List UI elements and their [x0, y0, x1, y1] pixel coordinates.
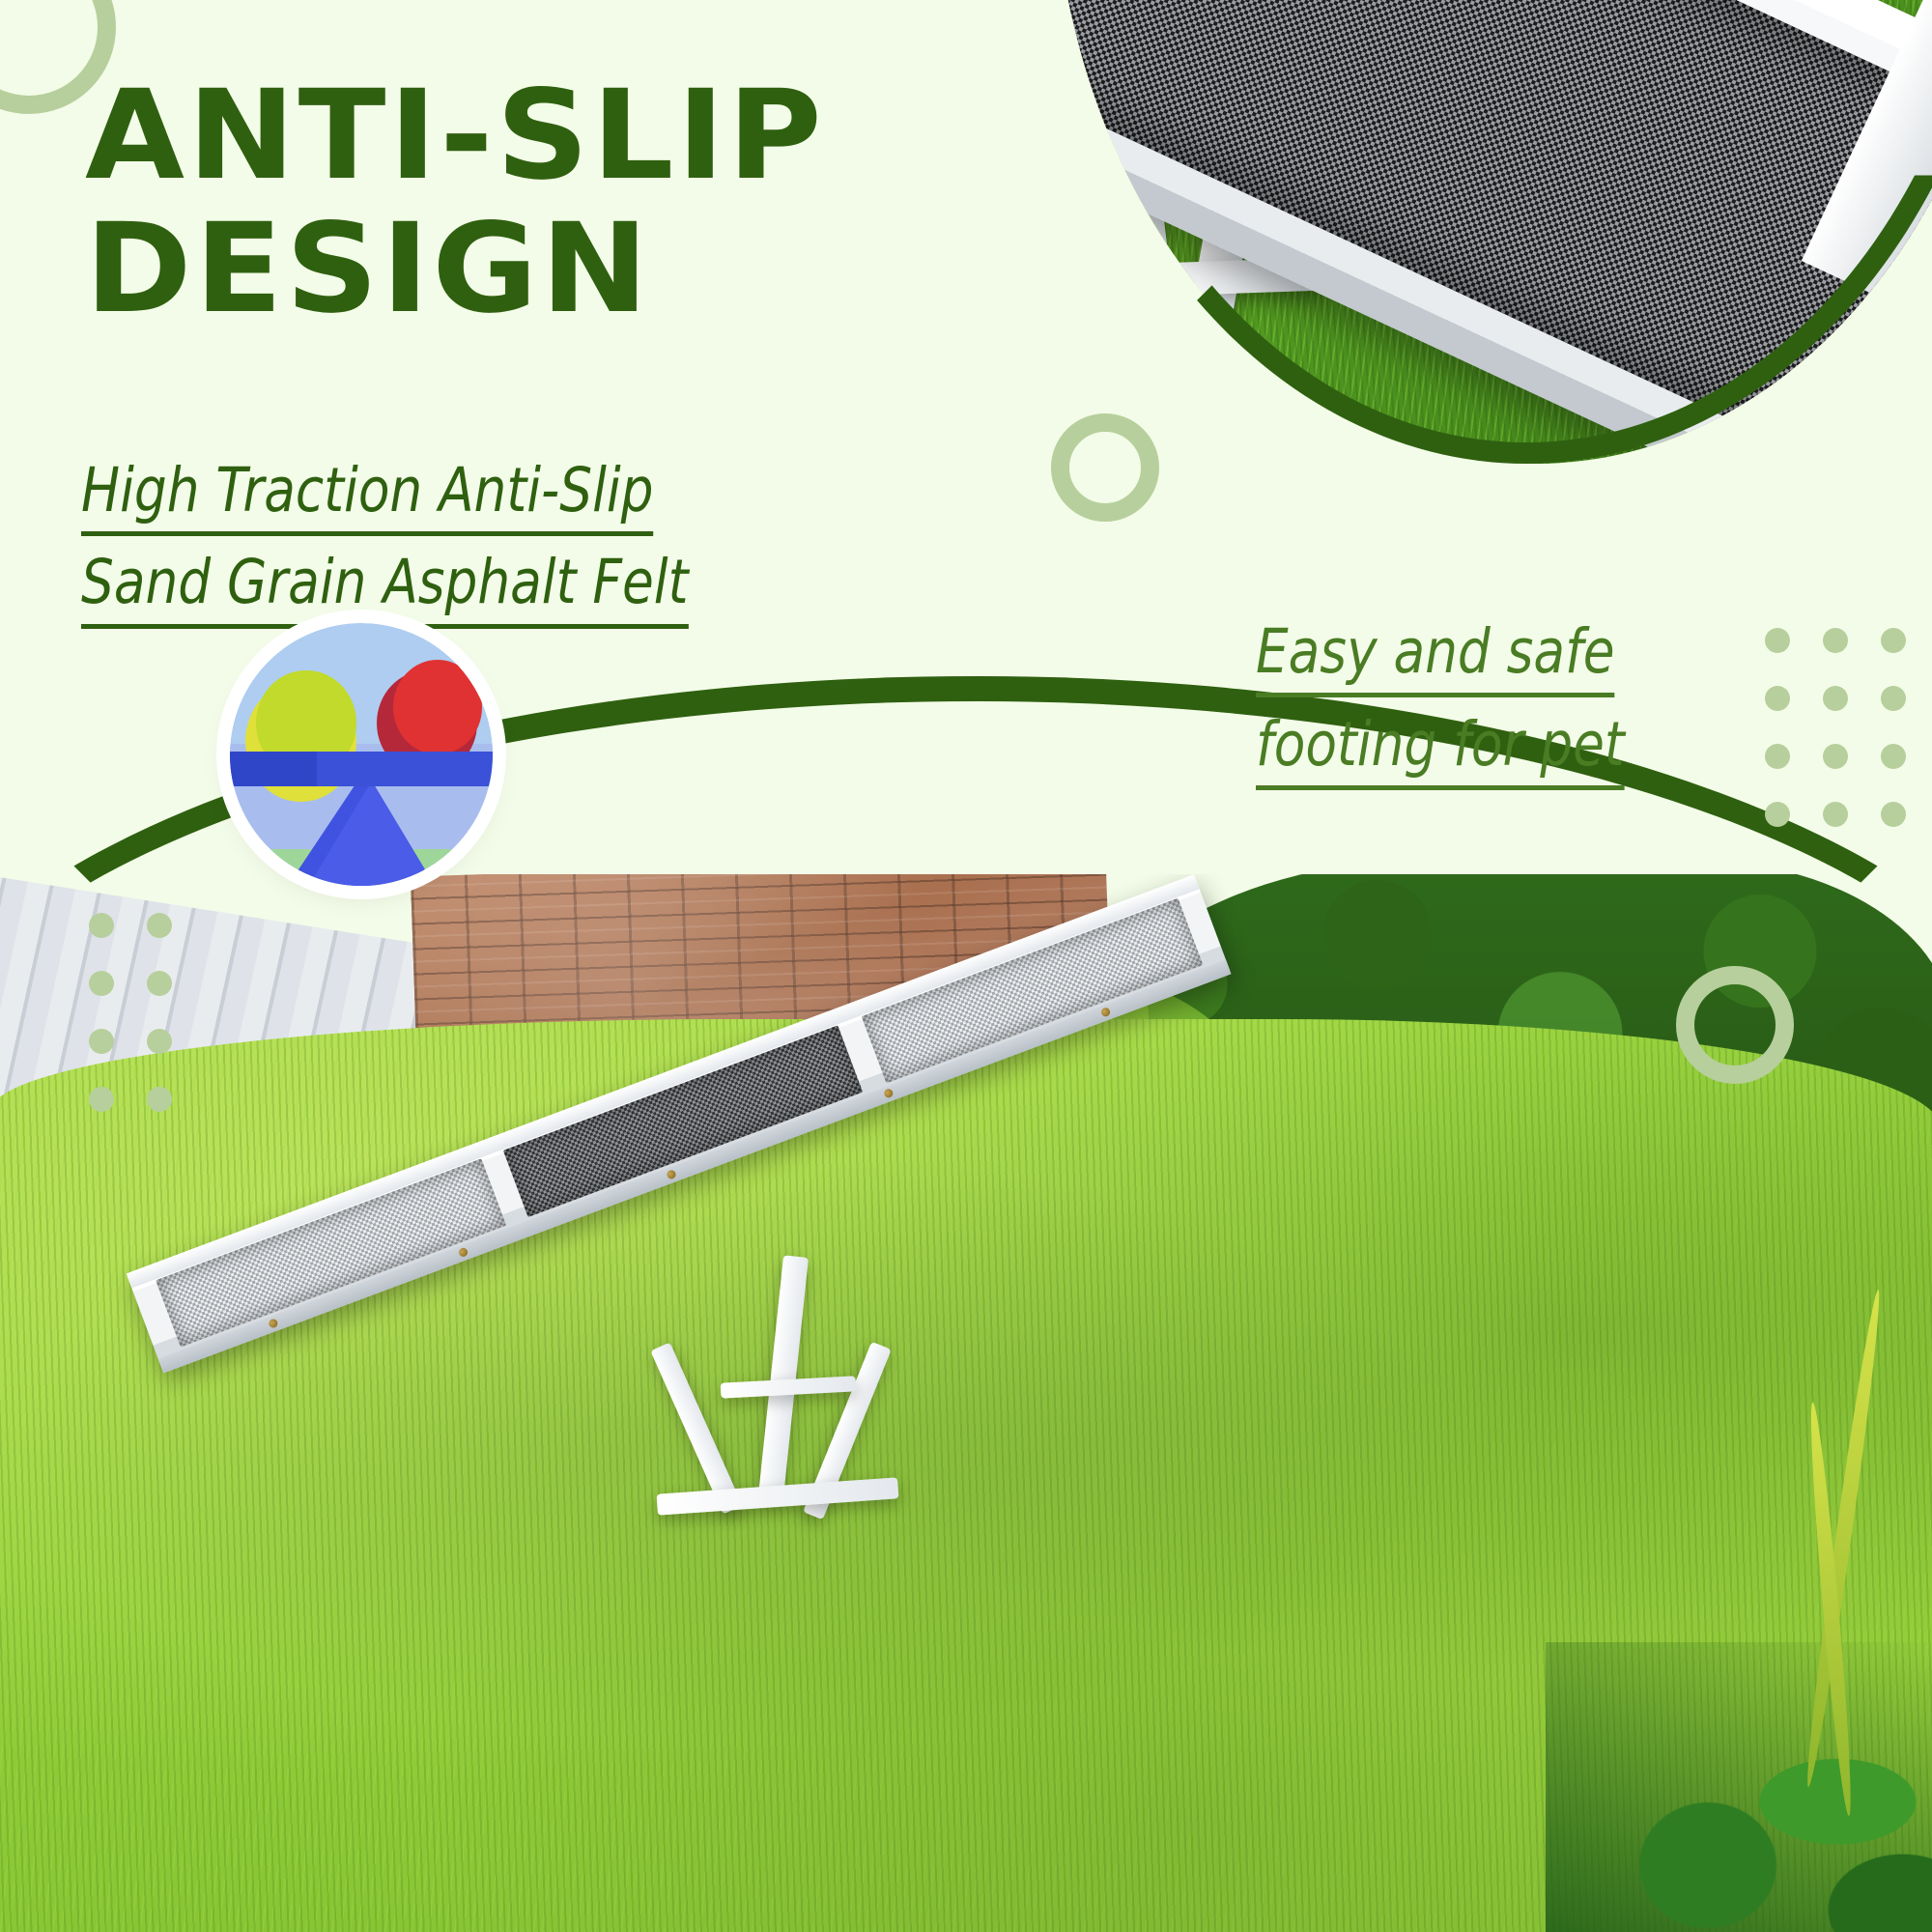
decor-ring-mid [1051, 413, 1159, 522]
decor-dots-left [89, 913, 172, 1112]
promo-banner: ANTI-SLIP DESIGN High Traction Anti-Slip… [0, 0, 1932, 1932]
badge-ball-right [393, 660, 482, 754]
base-leg [758, 1255, 809, 1497]
plants-bottom-right [1546, 1642, 1932, 1932]
subtitle-line-1: High Traction Anti-Slip [81, 452, 654, 536]
seesaw-base [628, 1256, 947, 1546]
sidenote-line-2: footing for pet [1256, 707, 1625, 790]
headline: ANTI-SLIP DESIGN [85, 70, 929, 336]
sidenote: Easy and safe footing for pet [1256, 614, 1797, 800]
subtitle-line-2: Sand Grain Asphalt Felt [81, 544, 688, 628]
decor-ring-right [1676, 966, 1794, 1084]
pet-seesaw-product [87, 923, 1246, 1550]
subtitle: High Traction Anti-Slip Sand Grain Aspha… [81, 452, 951, 637]
main-photo [0, 874, 1932, 1932]
headline-line-2: DESIGN [85, 203, 929, 336]
sidenote-line-1: Easy and safe [1256, 614, 1615, 697]
inset-photo-closeup [1053, 0, 1932, 464]
badge-plank-shadow [230, 752, 317, 785]
seesaw-balance-icon [230, 623, 493, 886]
plank-rail-top [127, 874, 1200, 1288]
headline-line-1: ANTI-SLIP [85, 64, 825, 208]
